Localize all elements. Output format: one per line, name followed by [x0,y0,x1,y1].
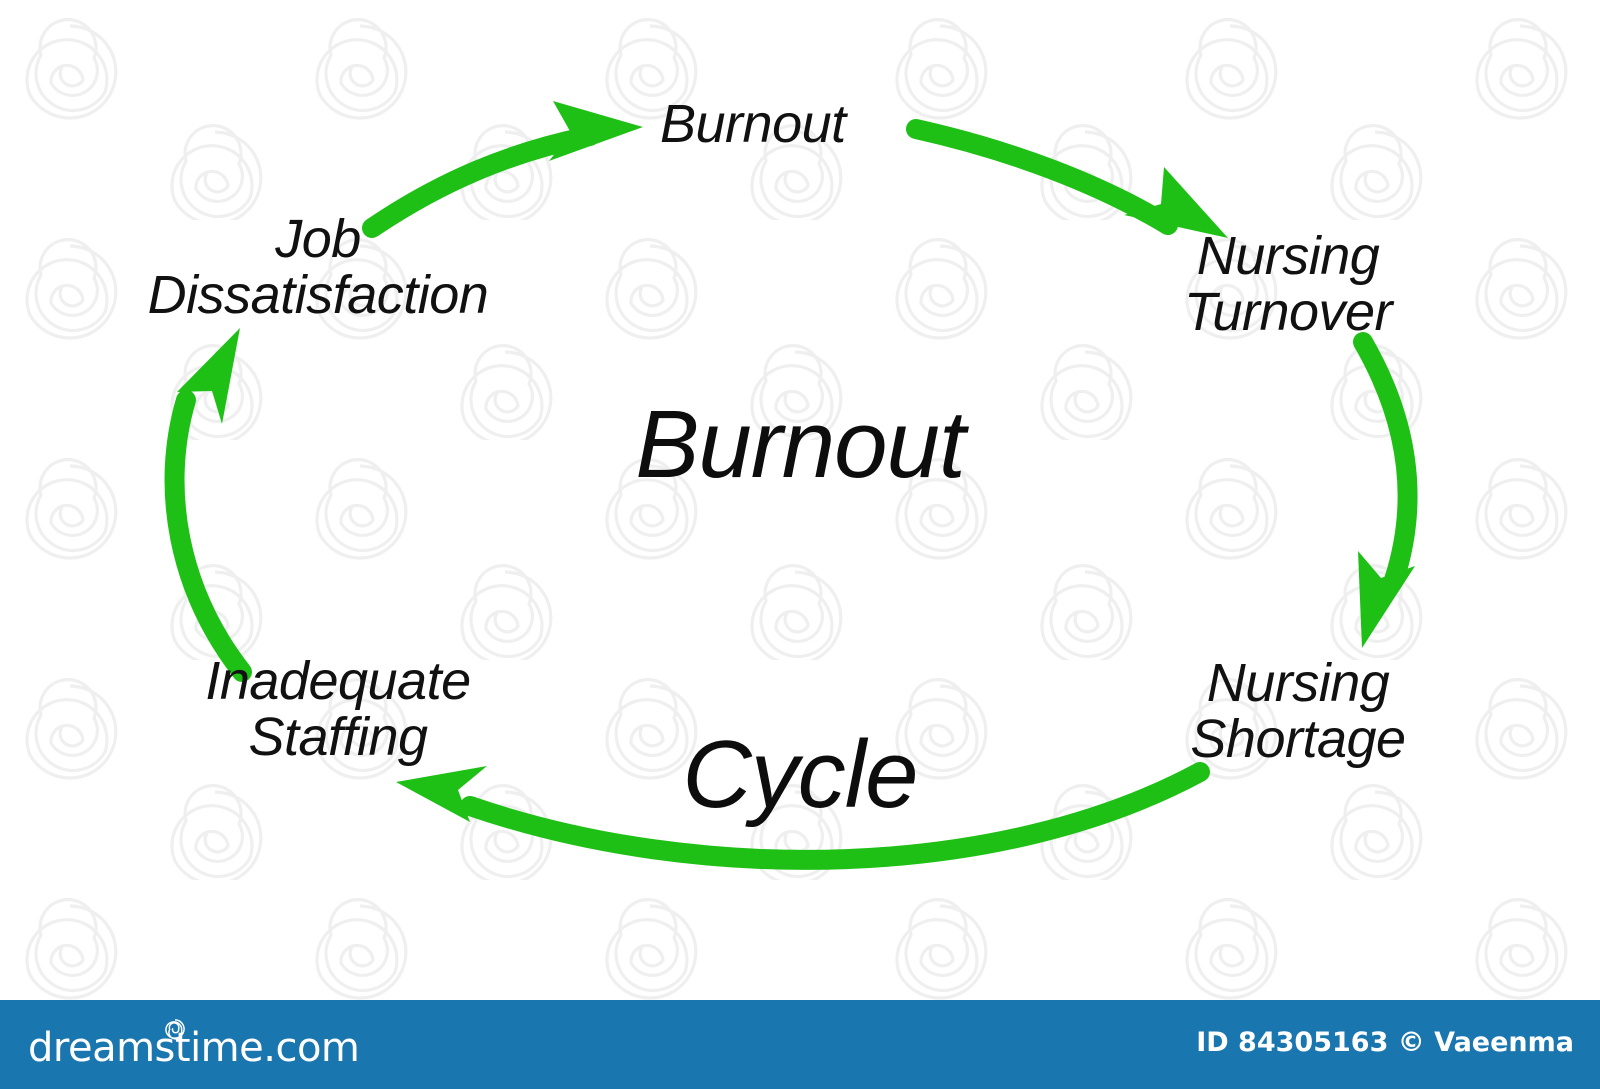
node-label-nursing-turnover: Nursing Turnover [1138,228,1438,340]
spiral-logo-icon [164,1018,186,1040]
node-label-burnout: Burnout [660,96,846,152]
diagram-center-title: Burnout Cycle [400,362,1200,857]
stock-photo-footer: dreamstime.com ID 84305163 © Vaeenma [0,1000,1600,1089]
arrow-turnover-to-shortage [1358,342,1415,648]
diagram-canvas: Burnout Nursing Turnover Nursing Shortag… [0,0,1600,1089]
arrow-dissatisfaction-to-burnout [372,101,643,228]
dreamstime-logo[interactable]: dreamstime.com [28,1020,359,1068]
arrow-staffing-to-dissatisfaction [175,328,242,672]
node-label-job-dissatisfaction: Job Dissatisfaction [88,211,548,323]
arrow-burnout-to-turnover [916,129,1228,238]
image-id-credit: ID 84305163 © Vaeenma [1196,1027,1574,1058]
dreamstime-logo-text: dreamstime.com [28,1028,359,1068]
